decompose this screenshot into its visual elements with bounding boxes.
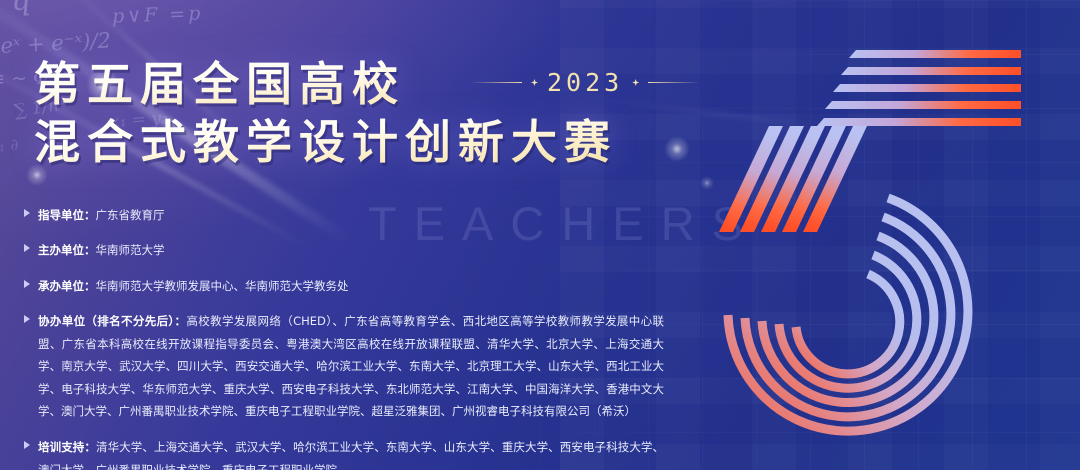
info-row-coorganizer: 协办单位（排名不分先后）：高校教学发展网络（CHED）、广东省高等教育学会、西北…: [24, 310, 664, 422]
event-banner: ∫ q p∨F =p = (eˣ + e⁻ˣ)/2 F ≡ ~ Φ ∑ 1/n²…: [0, 0, 1080, 470]
five-stem-bars: [719, 126, 867, 232]
year-badge: 2023: [470, 68, 700, 97]
triangle-bullet-icon: [24, 280, 30, 288]
info-row-text: 主办单位：华南师范大学: [38, 239, 165, 261]
formula-text: p∨F =p: [112, 2, 204, 27]
info-row-text: 培训支持：清华大学、上海交通大学、武汉大学、哈尔滨工业大学、东南大学、山东大学、…: [38, 436, 664, 470]
info-label: 指导单位：: [38, 208, 96, 222]
diamond-icon: [531, 79, 538, 86]
numeral-five-graphic: [690, 20, 1080, 470]
info-value: 广东省教育厅: [96, 208, 165, 222]
sparkle-decoration: [664, 136, 690, 162]
info-row-guidance: 指导单位：广东省教育厅: [24, 204, 664, 226]
badge-line-left: [470, 82, 522, 83]
info-row-text: 协办单位（排名不分先后）：高校教学发展网络（CHED）、广东省高等教育学会、西北…: [38, 310, 664, 422]
info-row-text: 指导单位：广东省教育厅: [38, 204, 165, 226]
info-row-text: 承办单位：华南师范大学教师发展中心、华南师范大学教务处: [38, 275, 349, 297]
formula-text: L₁ ∂: [0, 135, 19, 157]
info-row-organizer: 承办单位：华南师范大学教师发展中心、华南师范大学教务处: [24, 275, 664, 297]
info-label: 主办单位：: [38, 243, 96, 257]
five-top-bars: [817, 50, 1021, 126]
info-value: 华南师范大学: [96, 243, 165, 257]
organizer-info-list: 指导单位：广东省教育厅 主办单位：华南师范大学 承办单位：华南师范大学教师发展中…: [24, 204, 664, 470]
info-row-training-support: 培训支持：清华大学、上海交通大学、武汉大学、哈尔滨工业大学、东南大学、山东大学、…: [24, 436, 664, 470]
title-line-2: 混合式教学设计创新大赛: [34, 114, 617, 172]
info-label: 协办单位（排名不分先后）：: [38, 314, 186, 328]
formula-text: = (eˣ + e⁻ˣ)/2: [0, 28, 111, 59]
year-label: 2023: [547, 68, 623, 97]
info-row-host: 主办单位：华南师范大学: [24, 239, 664, 261]
formula-text: ∫ q: [0, 0, 32, 21]
info-label: 培训支持：: [38, 440, 96, 454]
triangle-bullet-icon: [24, 315, 30, 323]
five-curve-arcs: [728, 198, 968, 431]
diamond-icon: [632, 79, 639, 86]
triangle-bullet-icon: [24, 209, 30, 217]
info-label: 承办单位：: [38, 279, 96, 293]
info-value: 高校教学发展网络（CHED）、广东省高等教育学会、西北地区高等学校教师教学发展中…: [38, 314, 664, 418]
triangle-bullet-icon: [24, 441, 30, 449]
info-value: 华南师范大学教师发展中心、华南师范大学教务处: [96, 279, 349, 293]
info-value: 清华大学、上海交通大学、武汉大学、哈尔滨工业大学、东南大学、山东大学、重庆大学、…: [38, 440, 664, 470]
triangle-bullet-icon: [24, 244, 30, 252]
